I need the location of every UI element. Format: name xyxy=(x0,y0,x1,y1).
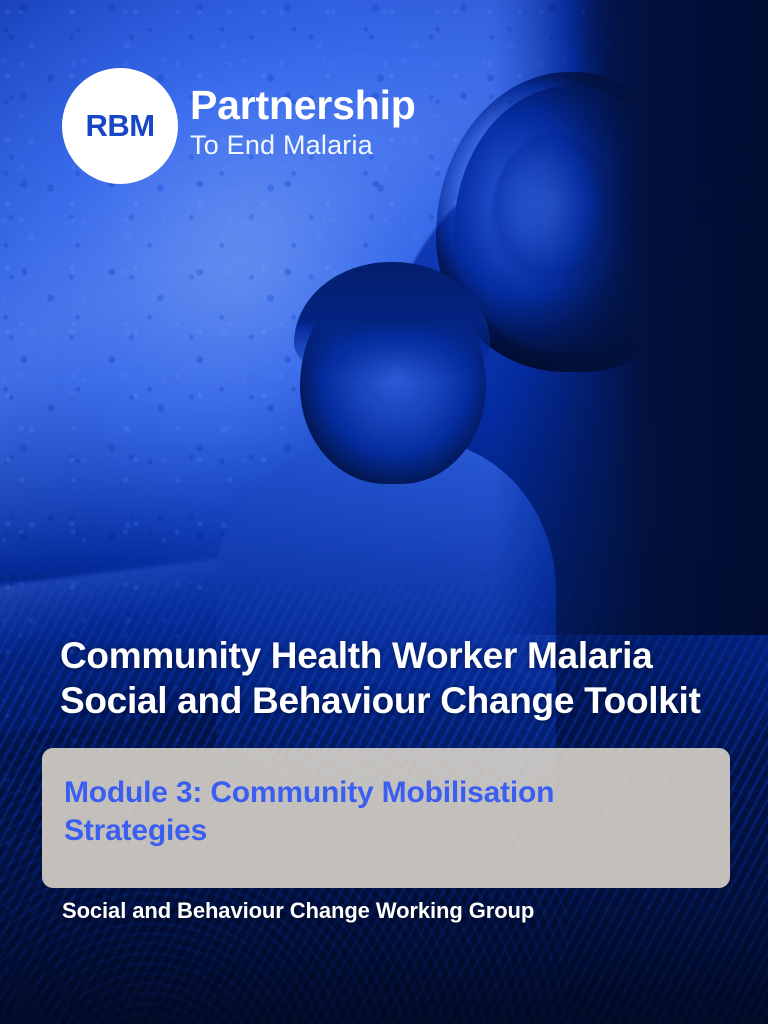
logo-circle-icon: RBM xyxy=(62,68,178,184)
logo-wordmark-block: Partnership To End Malaria xyxy=(190,68,416,162)
logo-tagline: To End Malaria xyxy=(190,130,416,162)
rbm-logo: RBM Partnership To End Malaria xyxy=(62,68,416,184)
logo-wordmark: Partnership xyxy=(190,85,416,127)
module-title-line-1: Module 3: Community Mobilisation xyxy=(64,774,706,812)
document-cover: RBM Partnership To End Malaria Community… xyxy=(0,0,768,1024)
working-group-label: Social and Behaviour Change Working Grou… xyxy=(62,898,534,924)
module-title-line-2: Strategies xyxy=(64,812,706,850)
cover-title-line-1: Community Health Worker Malaria xyxy=(60,633,720,678)
cover-content: RBM Partnership To End Malaria Community… xyxy=(0,0,768,1024)
module-banner: Module 3: Community Mobilisation Strateg… xyxy=(42,748,730,888)
cover-title-line-2: Social and Behaviour Change Toolkit xyxy=(60,678,720,723)
cover-title: Community Health Worker Malaria Social a… xyxy=(60,633,720,723)
module-title: Module 3: Community Mobilisation Strateg… xyxy=(64,774,706,851)
logo-monogram: RBM xyxy=(85,108,154,144)
